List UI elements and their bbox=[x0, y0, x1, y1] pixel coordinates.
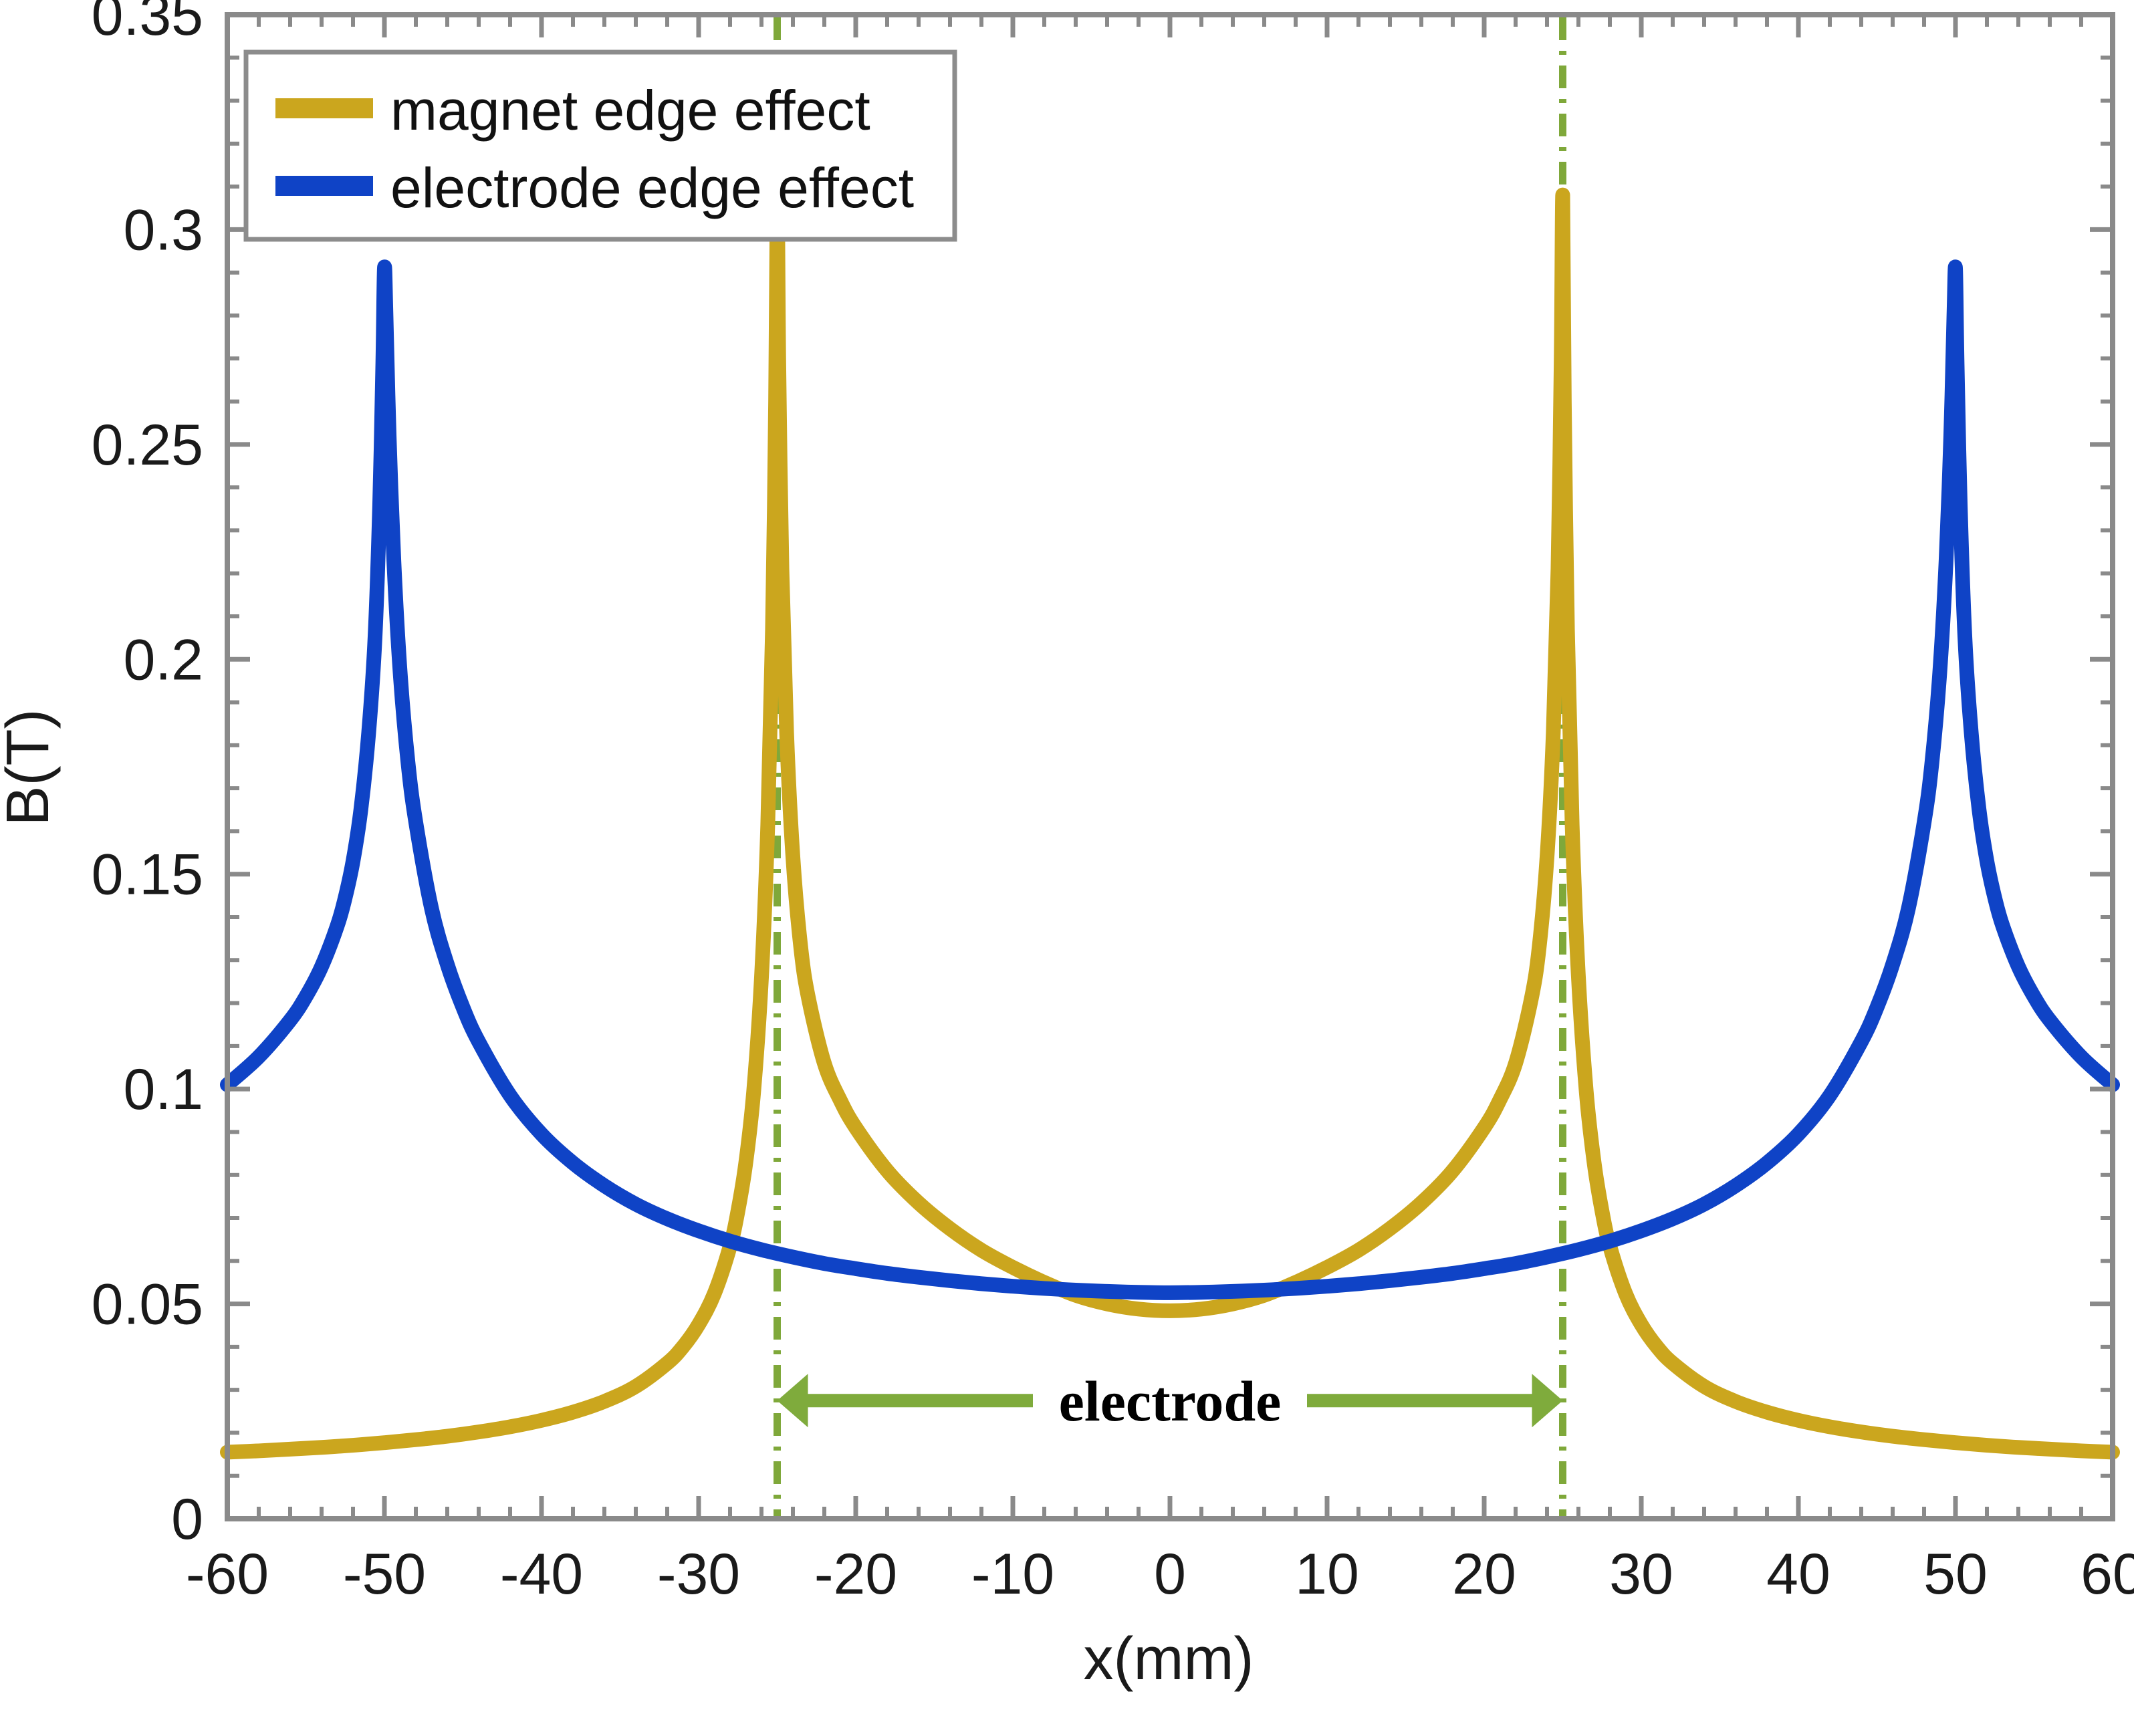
legend-label-2: electrode edge effect bbox=[390, 156, 914, 219]
x-tick-label: 30 bbox=[1609, 1542, 1673, 1606]
chart-svg: -60-50-40-30-20-100102030405060 00.050.1… bbox=[0, 0, 2134, 1736]
x-tick-label: -50 bbox=[343, 1542, 426, 1606]
x-tick-label: 40 bbox=[1766, 1542, 1830, 1606]
y-tick-label: 0.15 bbox=[92, 843, 203, 907]
x-tick-label: -40 bbox=[500, 1542, 583, 1606]
y-tick-label: 0.3 bbox=[123, 198, 203, 262]
x-tick-label: -20 bbox=[814, 1542, 897, 1606]
plot-background bbox=[0, 0, 2134, 1736]
y-tick-label: 0.35 bbox=[92, 0, 203, 47]
electrode-annotation-label: electrode bbox=[1059, 1369, 1282, 1433]
y-axis-title: B(T) bbox=[0, 709, 62, 826]
x-tick-label: 0 bbox=[1154, 1542, 1186, 1606]
x-axis-title: x(mm) bbox=[1084, 1626, 1254, 1693]
x-tick-label: -30 bbox=[657, 1542, 740, 1606]
figure-root: -60-50-40-30-20-100102030405060 00.050.1… bbox=[0, 0, 2134, 1736]
x-tick-label: 20 bbox=[1452, 1542, 1516, 1606]
x-tick-label: 50 bbox=[1923, 1542, 1988, 1606]
y-tick-label: 0.1 bbox=[123, 1058, 203, 1122]
x-tick-label: 60 bbox=[2081, 1542, 2134, 1606]
y-tick-label: 0.05 bbox=[92, 1273, 203, 1337]
y-tick-label: 0 bbox=[171, 1487, 203, 1552]
x-tick-label: -60 bbox=[186, 1542, 269, 1606]
x-tick-label: 10 bbox=[1295, 1542, 1359, 1606]
legend-label-1: magnet edge effect bbox=[390, 79, 870, 142]
x-tick-label: -10 bbox=[971, 1542, 1054, 1606]
y-tick-label: 0.2 bbox=[123, 628, 203, 692]
y-tick-label: 0.25 bbox=[92, 413, 203, 477]
legend[interactable]: magnet edge effectelectrode edge effect bbox=[246, 52, 955, 239]
